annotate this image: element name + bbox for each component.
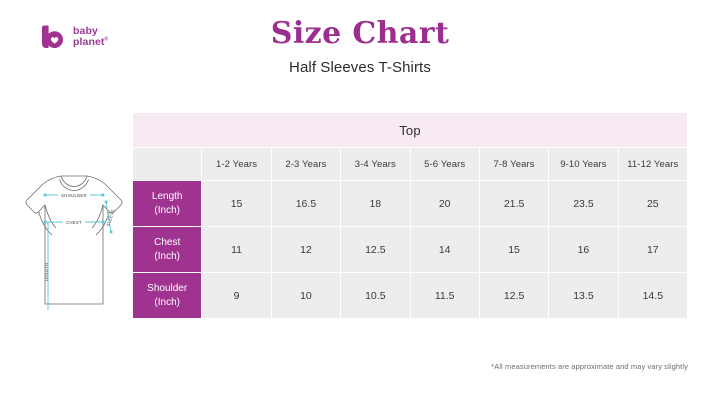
shoulder-label: SHOULDER — [61, 193, 87, 198]
cell-shoulder-1: 9 — [202, 273, 271, 319]
table-corner-cell — [133, 148, 202, 181]
cell-chest-2: 12 — [271, 227, 340, 273]
page-header: baby planet® Size Chart Half Sleeves T-S… — [0, 0, 720, 100]
title-block: Size Chart Half Sleeves T-Shirts — [0, 16, 720, 76]
footnote-disclaimer: *All measurements are approximate and ma… — [491, 362, 688, 371]
tshirt-measurement-diagram: SHOULDER CHEST LENGTH SLEEVE — [18, 162, 130, 312]
table-row: Length (Inch) 15 16.5 18 20 21.5 23.5 25 — [133, 181, 688, 227]
row-label-length: Length (Inch) — [133, 181, 202, 227]
cell-shoulder-5: 12.5 — [479, 273, 548, 319]
cell-chest-4: 14 — [410, 227, 479, 273]
cell-shoulder-6: 13.5 — [549, 273, 618, 319]
cell-length-2: 16.5 — [271, 181, 340, 227]
cell-length-7: 25 — [618, 181, 687, 227]
cell-chest-7: 17 — [618, 227, 687, 273]
cell-shoulder-2: 10 — [271, 273, 340, 319]
cell-shoulder-4: 11.5 — [410, 273, 479, 319]
cell-length-1: 15 — [202, 181, 271, 227]
length-label: LENGTH — [44, 263, 49, 282]
row-label-chest-name: Chest — [133, 236, 201, 250]
row-label-length-name: Length — [133, 190, 201, 204]
column-header-5: 7-8 Years — [479, 148, 548, 181]
column-header-3: 3-4 Years — [341, 148, 410, 181]
column-header-2: 2-3 Years — [271, 148, 340, 181]
cell-chest-1: 11 — [202, 227, 271, 273]
column-header-7: 11-12 Years — [618, 148, 687, 181]
table-banner-row: Top — [133, 113, 688, 148]
size-chart-table: Top 1-2 Years 2-3 Years 3-4 Years 5-6 Ye… — [132, 112, 688, 319]
table-row: Chest (Inch) 11 12 12.5 14 15 16 17 — [133, 227, 688, 273]
cell-chest-6: 16 — [549, 227, 618, 273]
cell-chest-3: 12.5 — [341, 227, 410, 273]
column-header-4: 5-6 Years — [410, 148, 479, 181]
row-label-chest-unit: (Inch) — [133, 250, 201, 264]
row-label-shoulder-unit: (Inch) — [133, 296, 201, 310]
table-header-row: 1-2 Years 2-3 Years 3-4 Years 5-6 Years … — [133, 148, 688, 181]
table-row: Shoulder (Inch) 9 10 10.5 11.5 12.5 13.5… — [133, 273, 688, 319]
row-label-shoulder: Shoulder (Inch) — [133, 273, 202, 319]
row-label-chest: Chest (Inch) — [133, 227, 202, 273]
cell-chest-5: 15 — [479, 227, 548, 273]
cell-shoulder-3: 10.5 — [341, 273, 410, 319]
table-banner-top: Top — [133, 113, 688, 148]
page-title: Size Chart — [0, 16, 720, 51]
cell-length-5: 21.5 — [479, 181, 548, 227]
column-header-1: 1-2 Years — [202, 148, 271, 181]
cell-length-6: 23.5 — [549, 181, 618, 227]
row-label-shoulder-name: Shoulder — [133, 282, 201, 296]
row-label-length-unit: (Inch) — [133, 204, 201, 218]
cell-shoulder-7: 14.5 — [618, 273, 687, 319]
column-header-6: 9-10 Years — [549, 148, 618, 181]
chest-label: CHEST — [66, 220, 82, 225]
page-subtitle: Half Sleeves T-Shirts — [0, 59, 720, 76]
sleeve-label: SLEEVE — [105, 208, 115, 227]
cell-length-3: 18 — [341, 181, 410, 227]
cell-length-4: 20 — [410, 181, 479, 227]
